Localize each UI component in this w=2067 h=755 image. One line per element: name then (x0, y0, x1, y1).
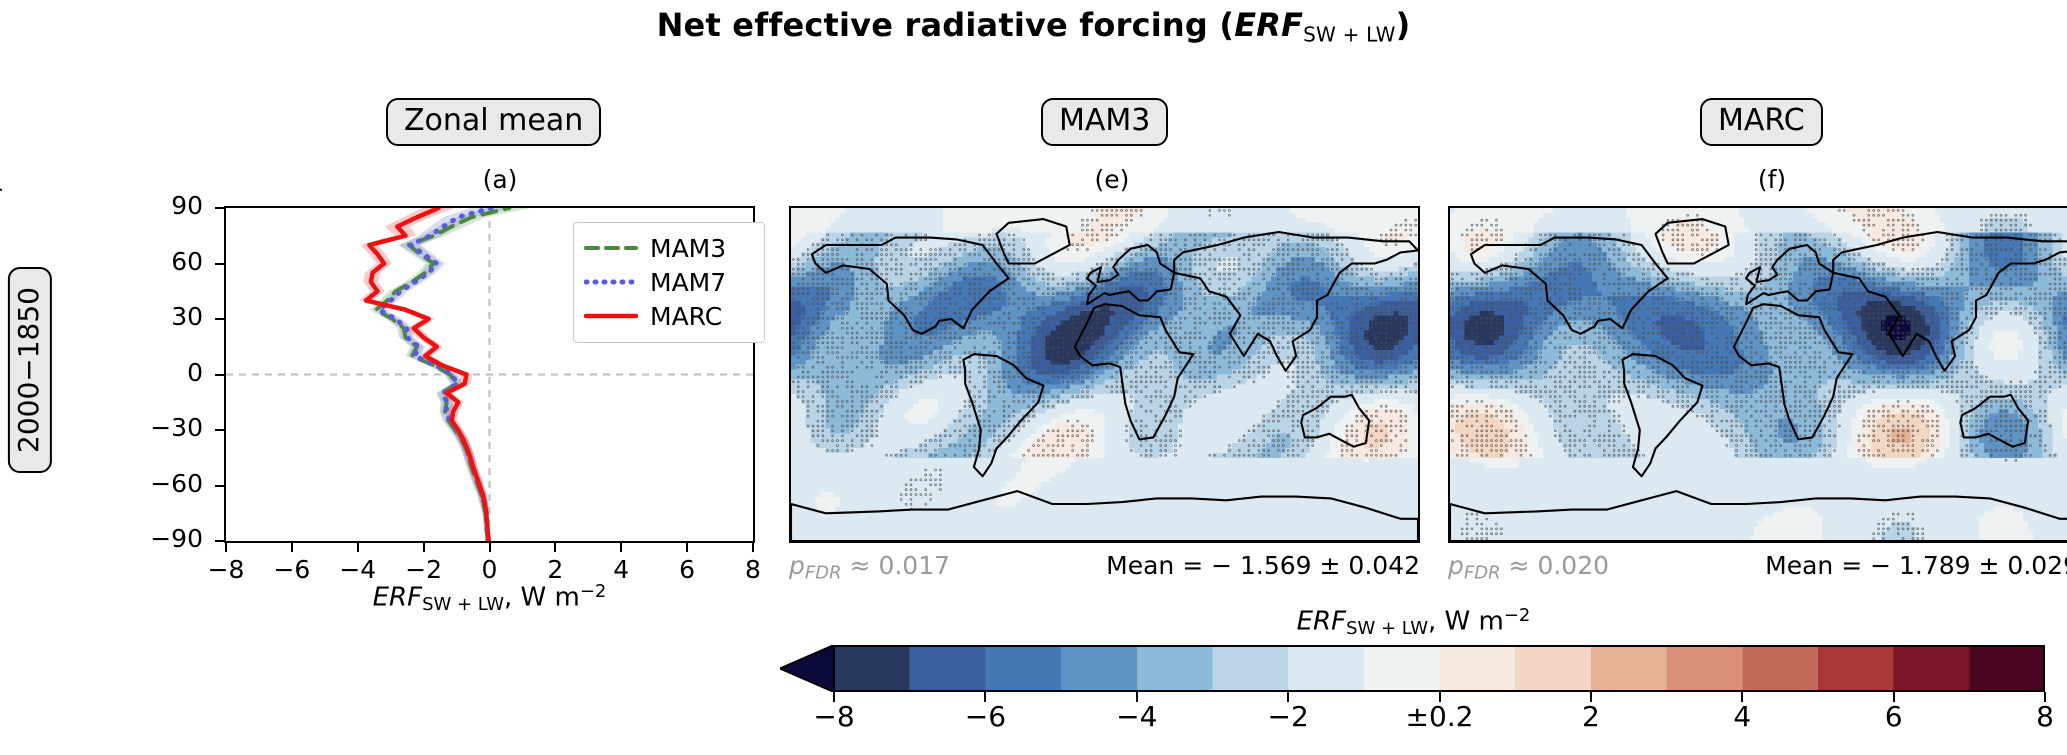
panel-letter-f: (f) (1702, 165, 1842, 194)
y-tick-mark (215, 429, 224, 431)
mean-label-marc: Mean = − 1.789 ± 0.029 (1679, 551, 2067, 580)
x-tick-mark (752, 543, 754, 552)
figure-title-main: Net effective radiative forcing ( (657, 6, 1235, 44)
x-tick-mark (225, 543, 227, 552)
colorbar-tick-label: −4 (1077, 700, 1197, 733)
legend-swatch-mam3 (584, 240, 638, 256)
panel-letter-a: (a) (430, 165, 570, 194)
legend-swatch-marc (584, 308, 638, 324)
x-tick-label: 0 (455, 555, 525, 584)
x-tick-label: −8 (191, 555, 261, 584)
zonal-legend[interactable]: MAM3MAM7MARC (573, 222, 765, 343)
colorbar-tick-label: 8 (1985, 700, 2067, 733)
zonal-x-axis-label: ERFSW + LW, W m−2 (224, 581, 755, 615)
x-tick-mark (554, 543, 556, 552)
y-tick-label: −90 (123, 524, 203, 553)
zonal-y-axis-label: Latitude, ° N (0, 136, 6, 300)
x-tick-label: 4 (586, 555, 656, 584)
x-tick-mark (291, 543, 293, 552)
pfdr-label-mam3: pFDR ≈ 0.017 (789, 551, 950, 584)
y-tick-label: 60 (123, 247, 203, 276)
colorbar-title: ERFSW + LW, W m−2 (760, 605, 2067, 639)
legend-item-mam3[interactable]: MAM3 (584, 231, 754, 265)
colorbar[interactable] (780, 645, 2045, 692)
panel-letter-e: (e) (1042, 165, 1182, 194)
colorbar-tick-label: 2 (1531, 700, 1651, 733)
x-tick-label: −4 (323, 555, 393, 584)
y-tick-mark (215, 540, 224, 542)
figure-title: Net effective radiative forcing (ERFSW +… (0, 6, 2067, 47)
y-tick-label: 30 (123, 302, 203, 331)
row-label-container: 2000−1850 (2, 225, 58, 515)
map-panel-mam3[interactable] (789, 206, 1420, 543)
x-tick-mark (489, 543, 491, 552)
x-tick-mark (686, 543, 688, 552)
row-label-2000-1850: 2000−1850 (8, 267, 52, 473)
mean-label-mam3: Mean = − 1.569 ± 0.042 (1020, 551, 1420, 580)
y-tick-label: 0 (123, 358, 203, 387)
y-tick-mark (215, 318, 224, 320)
x-tick-label: −6 (257, 555, 327, 584)
colorbar-tick-label: −6 (925, 700, 1045, 733)
column-header-zonal-mean: Zonal mean (386, 98, 601, 146)
map-svg-marc (1450, 208, 2067, 541)
y-tick-mark (215, 207, 224, 209)
x-tick-mark (620, 543, 622, 552)
pfdr-label-marc: pFDR ≈ 0.020 (1448, 551, 1609, 584)
column-header-marc: MARC (1700, 98, 1823, 146)
x-tick-label: −2 (389, 555, 459, 584)
legend-item-marc[interactable]: MARC (584, 299, 754, 333)
colorbar-tick-label: 4 (1682, 700, 1802, 733)
colorbar-svg (780, 645, 2045, 692)
figure-title-close: ) (1396, 6, 1411, 44)
y-tick-label: −60 (123, 469, 203, 498)
figure-title-variable: ERF (1234, 6, 1303, 44)
map-panel-marc[interactable] (1448, 206, 2067, 543)
x-tick-mark (357, 543, 359, 552)
column-header-mam3: MAM3 (1041, 98, 1168, 146)
map-svg-mam3 (791, 208, 1418, 541)
figure-title-subscript: SW + LW (1303, 23, 1395, 47)
colorbar-tick-label: −8 (774, 700, 894, 733)
x-tick-label: 2 (520, 555, 590, 584)
y-tick-mark (215, 485, 224, 487)
legend-label: MAM3 (650, 234, 726, 263)
legend-swatch-mam7 (584, 274, 638, 290)
y-tick-mark (215, 374, 224, 376)
colorbar-tick-label: 6 (1834, 700, 1954, 733)
y-tick-label: 90 (123, 191, 203, 220)
legend-label: MARC (650, 302, 722, 331)
colorbar-tick-label: −2 (1228, 700, 1348, 733)
y-tick-mark (215, 263, 224, 265)
legend-item-mam7[interactable]: MAM7 (584, 265, 754, 299)
legend-label: MAM7 (650, 268, 726, 297)
x-tick-mark (423, 543, 425, 552)
colorbar-tick-label: ±0.2 (1380, 700, 1500, 733)
x-tick-label: 6 (652, 555, 722, 584)
y-tick-label: −30 (123, 413, 203, 442)
x-tick-label: 8 (718, 555, 788, 584)
